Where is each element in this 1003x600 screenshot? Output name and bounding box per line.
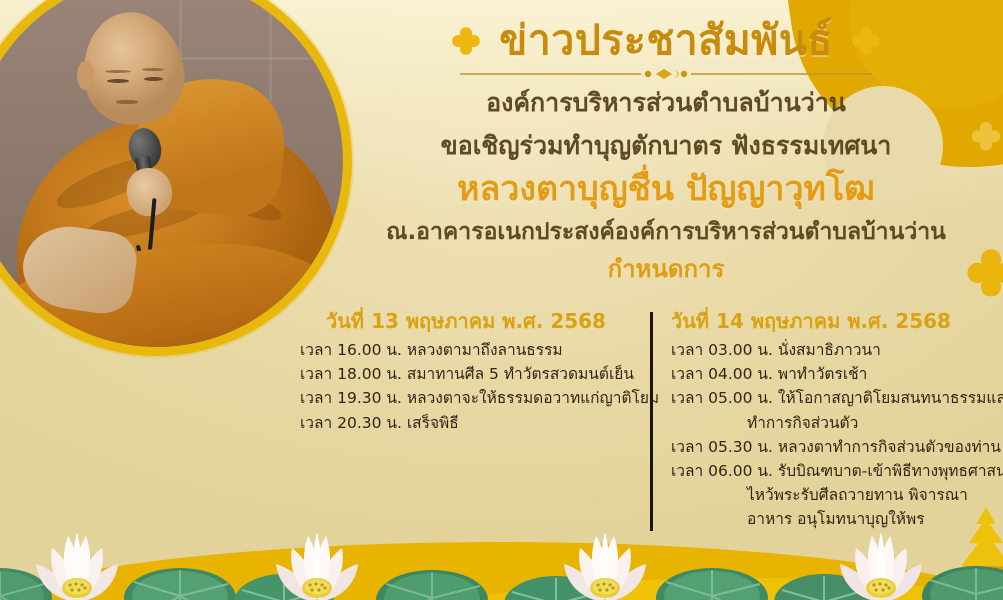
schedule-item-text: เวลา 19.30 น. หลวงตาจะให้ธรรมดอวาทแก่ญาต… <box>300 389 659 407</box>
invitation-line: ขอเชิญร่วมทำบุญตักบาตร ฟังธรรมเทศนา <box>336 129 996 163</box>
quatrefoil-floret-left-icon <box>451 26 481 56</box>
schedule-item-text: เวลา 18.00 น. สมาทานศีล 5 ทำวัตรสวดมนต์เ… <box>300 365 634 383</box>
monk-portrait <box>0 0 352 356</box>
schedule-item: เวลา 20.30 น. เสร็จพิธี <box>300 411 632 435</box>
lotus-leaf-icon <box>360 532 510 600</box>
day1-item-list: เวลา 16.00 น. หลวงตามาถึงลานธรรมเวลา 18.… <box>300 338 632 435</box>
title-row: ข่าวประชาสัมพันธ์ <box>336 18 996 64</box>
schedule-item-text: เวลา 05.00 น. ให้โอกาสญาติโยมสนทนาธรรมแล… <box>671 389 1003 407</box>
schedule-item-text: เวลา 20.30 น. เสร็จพิธี <box>300 414 459 432</box>
page-title: ข่าวประชาสัมพันธ์ <box>499 18 833 64</box>
title-divider-ornament <box>456 66 876 82</box>
header-block: ข่าวประชาสัมพันธ์ องค์การบริหารส่วนตำบลบ… <box>336 18 996 284</box>
schedule-item: เวลา 05.00 น. ให้โอกาสญาติโยมสนทนาธรรมแล… <box>671 386 993 434</box>
schedule-item: เวลา 19.30 น. หลวงตาจะให้ธรรมดอวาทแก่ญาต… <box>300 386 632 410</box>
schedule-item-text: เวลา 03.00 น. นั่งสมาธิภาวนา <box>671 341 881 359</box>
agenda-heading: กำหนดการ <box>336 254 996 284</box>
schedule-item-continuation: ทำการกิจส่วนตัว <box>671 411 993 435</box>
schedule-item: เวลา 18.00 น. สมาทานศีล 5 ทำวัตรสวดมนต์เ… <box>300 362 632 386</box>
bottom-decoration-band <box>0 492 1003 600</box>
announcement-poster: ข่าวประชาสัมพันธ์ องค์การบริหารส่วนตำบลบ… <box>0 0 1003 600</box>
schedule-item-text: เวลา 05.30 น. หลวงตาทำการกิจส่วนตัวของท่… <box>671 438 1001 456</box>
schedule-item: เวลา 03.00 น. นั่งสมาธิภาวนา <box>671 338 993 362</box>
venue-line: ณ.อาคารอเนกประสงค์องค์การบริหารส่วนตำบลบ… <box>336 218 996 248</box>
day1-title: วันที่ 13 พฤษภาคม พ.ศ. 2568 <box>300 308 632 334</box>
monk-name: หลวงตาบุญชื่น ปัญญาวุทโฒ <box>336 169 996 210</box>
schedule-item: เวลา 05.30 น. หลวงตาทำการกิจส่วนตัวของท่… <box>671 435 993 459</box>
day2-title: วันที่ 14 พฤษภาคม พ.ศ. 2568 <box>671 308 993 334</box>
schedule-item-text: เวลา 04.00 น. พาทำวัตรเช้า <box>671 365 867 383</box>
schedule-item: เวลา 16.00 น. หลวงตามาถึงลานธรรม <box>300 338 632 362</box>
schedule-day1-column: วันที่ 13 พฤษภาคม พ.ศ. 2568 เวลา 16.00 น… <box>300 308 650 435</box>
schedule-item-text: เวลา 06.00 น. รับบิณฑบาต-เข้าพิธีทางพุทธ… <box>671 462 1003 480</box>
schedule-item: เวลา 04.00 น. พาทำวัตรเช้า <box>671 362 993 386</box>
organization-name: องค์การบริหารส่วนตำบลบ้านว่าน <box>336 86 996 120</box>
schedule-item-text: เวลา 16.00 น. หลวงตามาถึงลานธรรม <box>300 341 563 359</box>
quatrefoil-floret-right-icon <box>851 26 881 56</box>
lotus-leaf-icon <box>910 532 1003 600</box>
